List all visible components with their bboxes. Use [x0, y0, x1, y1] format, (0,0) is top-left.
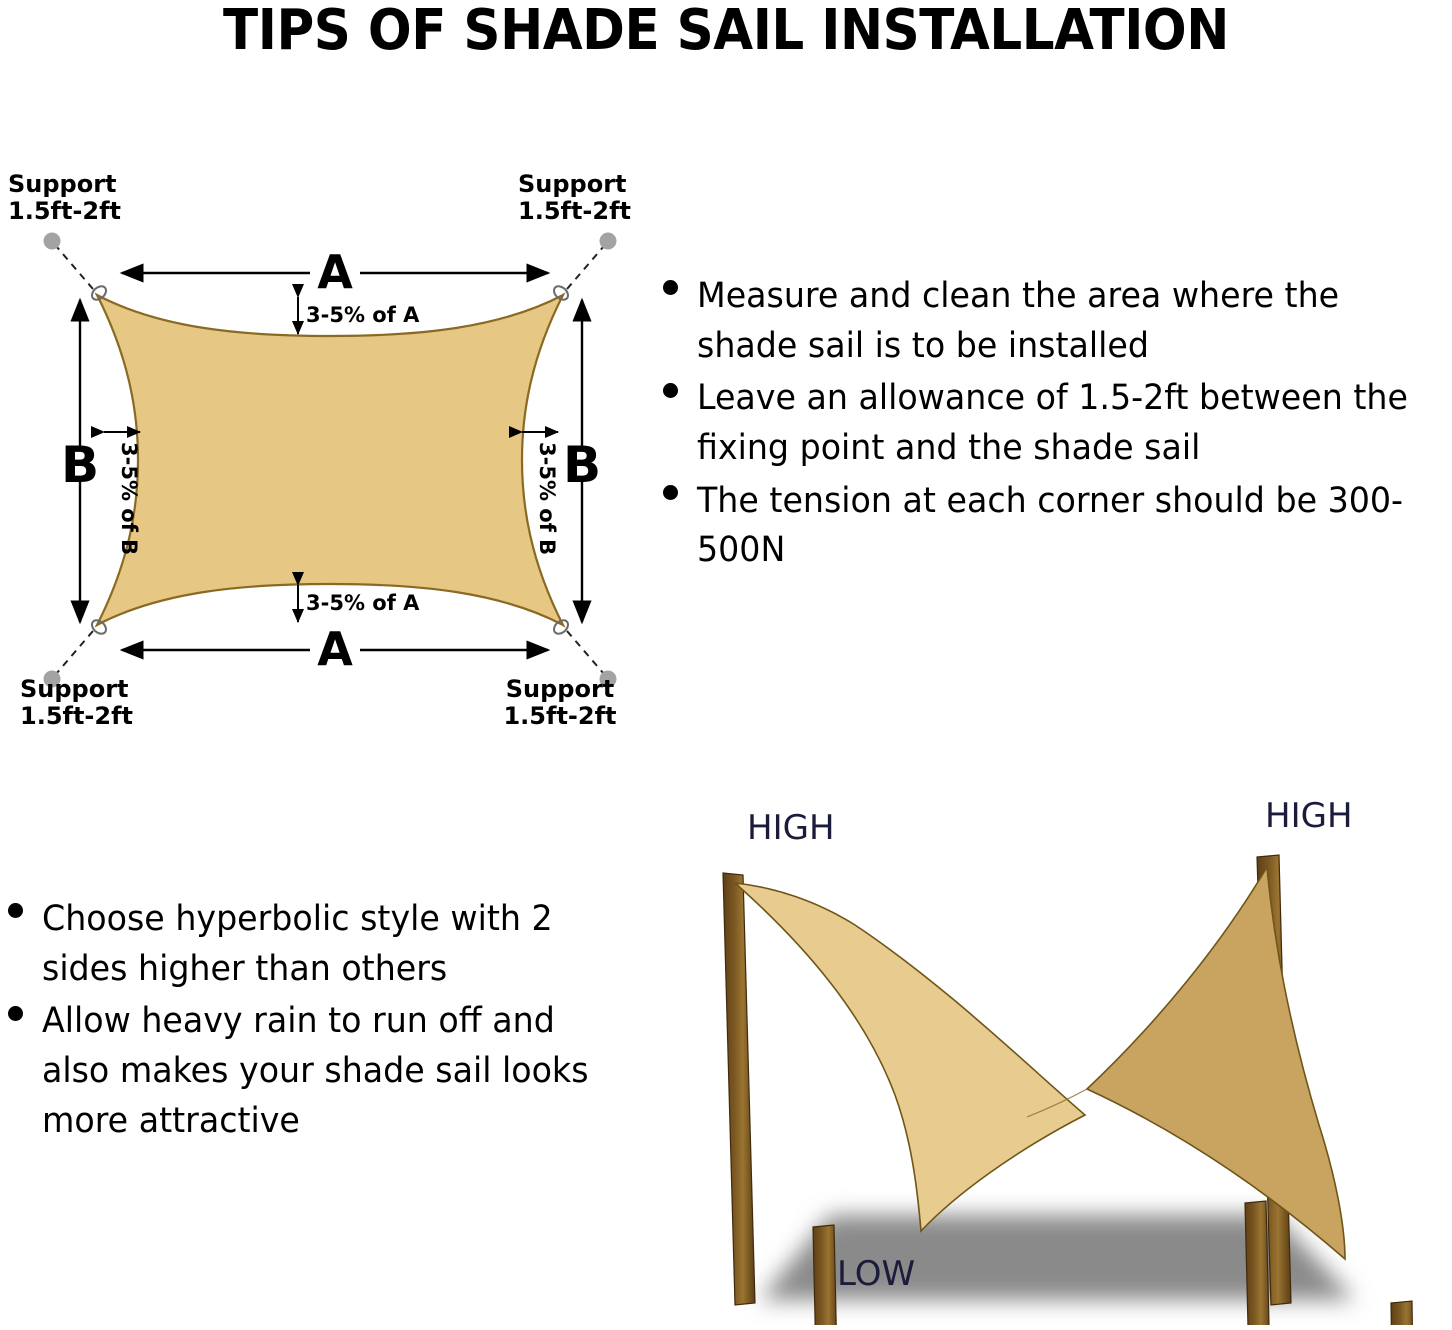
rect-diagram-svg: Support 1.5ft-2ft Support 1.5ft-2ft Supp…: [0, 160, 660, 740]
sail-panel-left: [735, 883, 1085, 1231]
curve-depth-bottom-label: 3-5% of A: [306, 591, 420, 615]
curve-depth-top-label: 3-5% of A: [306, 303, 420, 327]
list-item-text: Choose hyperbolic style with 2 sides hig…: [42, 895, 610, 994]
sail-panel-right: [1087, 867, 1345, 1259]
list-item-text: Measure and clean the area where the sha…: [697, 272, 1417, 371]
infographic-page: TIPS OF SHADE SAIL INSTALLATION: [0, 0, 1452, 1325]
page-title: TIPS OF SHADE SAIL INSTALLATION: [58, 2, 1394, 61]
support-label-top-right: Support 1.5ft-2ft: [518, 170, 631, 225]
support-label-bottom-left-line2: 1.5ft-2ft: [20, 702, 133, 730]
bullet-dot-icon: [663, 280, 678, 295]
curve-depth-left: 3-5% of B: [104, 432, 141, 555]
dim-a-bottom-label: A: [317, 622, 353, 676]
bullet-dot-icon: [663, 485, 678, 500]
curve-depth-right-label: 3-5% of B: [535, 442, 559, 555]
shade-sail-shape: [97, 295, 563, 625]
post-high-left-body: [723, 873, 755, 1305]
support-label-bottom-left: Support 1.5ft-2ft: [20, 675, 133, 730]
support-dot-top-left: [44, 233, 61, 250]
support-label-top-left-line1: Support: [8, 170, 117, 198]
dim-a-top-label: A: [317, 245, 353, 299]
rectangular-sail-diagram: Support 1.5ft-2ft Support 1.5ft-2ft Supp…: [0, 160, 660, 740]
support-label-bottom-right: Support 1.5ft-2ft: [503, 675, 616, 730]
support-line-top-right: [567, 246, 604, 289]
support-line-bottom-left: [56, 631, 93, 674]
bullet-dot-icon: [663, 383, 678, 398]
hyperbolic-sail-diagram: HIGH HIGH LOW LOW: [655, 795, 1452, 1325]
curve-depth-top: 3-5% of A: [298, 297, 420, 334]
dimension-a-top: A: [122, 245, 548, 299]
list-item: Choose hyperbolic style with 2 sides hig…: [0, 895, 640, 994]
post-low-right: [1391, 1301, 1416, 1325]
list-item-text: The tension at each corner should be 300…: [697, 477, 1417, 576]
support-label-top-right-line1: Support: [518, 170, 627, 198]
support-label-top-left-line2: 1.5ft-2ft: [8, 197, 121, 225]
list-item-text: Allow heavy rain to run off and also mak…: [42, 997, 610, 1146]
post-low-right-body: [1391, 1301, 1416, 1325]
label-low-left: LOW: [837, 1254, 915, 1294]
support-label-bottom-right-line2: 1.5ft-2ft: [503, 702, 616, 730]
post-high-left: [723, 873, 755, 1305]
label-high-left: HIGH: [747, 808, 835, 848]
curve-depth-left-label: 3-5% of B: [117, 442, 141, 555]
label-high-right: HIGH: [1265, 796, 1353, 836]
support-label-bottom-right-line1: Support: [506, 675, 615, 703]
bullet-dot-icon: [8, 903, 23, 918]
hyper-diagram-svg: HIGH HIGH LOW LOW: [655, 795, 1452, 1325]
dimension-a-bottom: A: [122, 622, 548, 676]
list-item: Measure and clean the area where the sha…: [655, 272, 1452, 371]
support-label-top-right-line2: 1.5ft-2ft: [518, 197, 631, 225]
dimension-b-right: B: [563, 300, 601, 622]
dim-b-right-label: B: [563, 436, 601, 494]
list-item: Allow heavy rain to run off and also mak…: [0, 997, 640, 1146]
curve-depth-bottom: 3-5% of A: [298, 585, 420, 622]
installation-tips-list-top: Measure and clean the area where the sha…: [655, 272, 1452, 579]
installation-tips-list-bottom: Choose hyperbolic style with 2 sides hig…: [0, 895, 640, 1149]
list-item: The tension at each corner should be 300…: [655, 477, 1452, 576]
support-line-top-left: [56, 246, 93, 289]
support-line-bottom-right: [567, 631, 604, 674]
support-dot-top-right: [600, 233, 617, 250]
support-label-bottom-left-line1: Support: [20, 675, 129, 703]
dimension-b-left: B: [61, 300, 99, 622]
bullet-dot-icon: [8, 1006, 23, 1021]
dim-b-left-label: B: [61, 436, 99, 494]
support-label-top-left: Support 1.5ft-2ft: [8, 170, 121, 225]
list-item: Leave an allowance of 1.5-2ft between th…: [655, 374, 1452, 473]
post-low-left-body: [813, 1225, 838, 1325]
post-low-left: [813, 1225, 838, 1325]
list-item-text: Leave an allowance of 1.5-2ft between th…: [697, 374, 1417, 473]
